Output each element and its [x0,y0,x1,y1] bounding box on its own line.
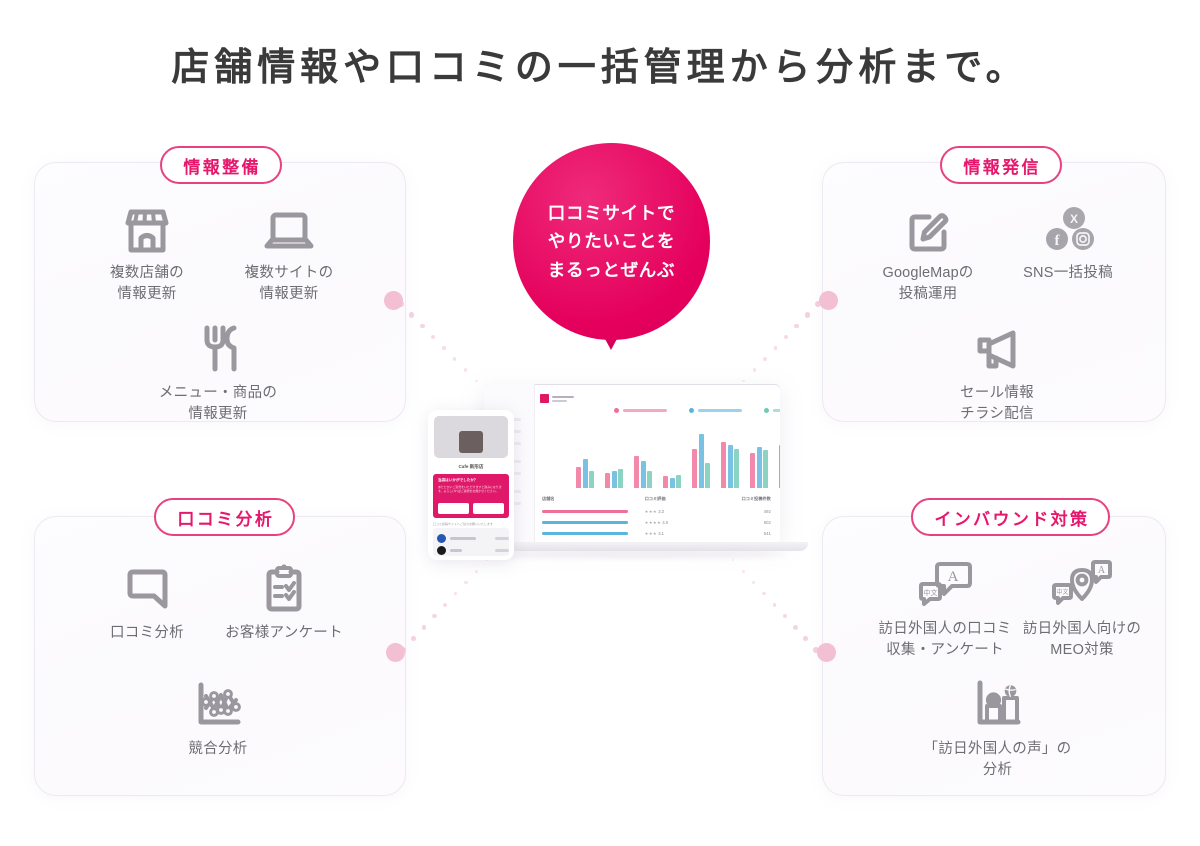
logo-wordmark [552,396,574,402]
other-icon [437,546,446,555]
dashboard-logo [540,394,574,403]
posts-cell: 492 [710,509,779,514]
bar-chart [576,426,780,488]
store-name-cell [542,532,645,535]
bar-group [692,434,710,488]
rating-cell: ★★★ 3.1 [645,531,710,536]
bar-group [750,447,768,488]
table-header-row: 店舗名口コミ評価口コミ投稿件数口コミ閲覧件数 [542,496,780,506]
table-row: ★★★ 3.154115,298 [542,528,780,539]
list-item[interactable] [437,546,462,555]
bar-group [721,442,739,488]
table-header-cell: 口コミ閲覧件数 [779,496,780,502]
posts-cell: 602 [710,520,779,525]
connector-dot-bottom-left [386,643,405,662]
rating-cell: ★★★★ 4.0 [645,520,710,525]
phone-list-note: 口コミ投稿サイトへご協力お願いいたします [433,522,493,526]
bar-group [663,475,681,488]
rating-cell: ★★★ 3.3 [645,509,710,514]
store-name-cell [542,521,645,524]
review-table: 店舗名口コミ評価口コミ投稿件数口コミ閲覧件数 ★★★ 3.34928,108★★… [542,496,780,542]
connector-dot-top-right [819,291,838,310]
laptop-screen: 店舗名口コミ評価口コミ投稿件数口コミ閲覧件数 ★★★ 3.34928,108★★… [484,384,780,542]
phone-store-name: Cafe 新形店 [428,464,514,470]
survey-review-button[interactable] [473,503,504,514]
badge-info-maintenance[interactable]: 情報整備 [160,146,282,184]
phone-survey-card: 当店はいかがでしたか？ あたたかいご意見をいただけますと励みになります。よろしけ… [433,474,509,518]
views-cell: 8,108 [779,509,780,514]
badge-info-publishing[interactable]: 情報発信 [940,146,1062,184]
badge-review-analysis[interactable]: 口コミ分析 [154,498,295,536]
views-cell: 13,139 [779,520,780,525]
survey-title: 当店はいかがでしたか？ [438,478,478,483]
phone-mockup: Cafe 新形店 当店はいかがでしたか？ あたたかいご意見をいただけますと励みに… [428,410,514,560]
legend-item [614,408,667,413]
table-header-cell: 店舗名 [542,496,645,502]
phone-review-list [433,528,509,556]
bar-group [779,440,780,488]
views-cell: 15,298 [779,531,780,536]
chart-legend [614,408,780,413]
hero-text: 口コミサイトで やりたいことを まるっとぜんぶ [548,199,675,284]
legend-item [764,408,780,413]
facebook-icon [437,534,446,543]
hero-bubble: 口コミサイトで やりたいことを まるっとぜんぶ [513,143,710,340]
survey-feedback-button[interactable] [438,503,469,514]
device-mockup: 店舗名口コミ評価口コミ投稿件数口コミ閲覧件数 ★★★ 3.34928,108★★… [418,372,800,580]
table-row: ★★★ 3.34928,108 [542,506,780,517]
posts-cell: 541 [710,531,779,536]
store-name-cell [542,510,645,513]
connector-dot-bottom-right [817,643,836,662]
table-body: ★★★ 3.34928,108★★★★ 4.060213,139★★★ 3.15… [542,506,780,542]
logo-mark-icon [540,394,549,403]
bar-group [634,456,652,488]
table-header-cell: 口コミ評価 [645,496,710,502]
badge-inbound-measures[interactable]: インバウンド対策 [911,498,1110,536]
infographic-root: 店舗情報や口コミの一括管理から分析まで。 情報整備 複数店舗の 情報更新 [0,0,1200,846]
list-item[interactable] [437,534,476,543]
bar-group [605,469,623,488]
table-header-cell: 口コミ投稿件数 [710,496,779,502]
legend-item [689,408,742,413]
table-row: ★★★★ 4.060213,139 [542,517,780,528]
laptop-shadow [488,552,788,557]
phone-store-logo [459,431,483,453]
connector-dot-top-left [384,291,403,310]
bar-group [576,459,594,488]
survey-body: あたたかいご意見をいただけますと励みになります。よろしければご感想をお聞かせくだ… [438,485,502,494]
